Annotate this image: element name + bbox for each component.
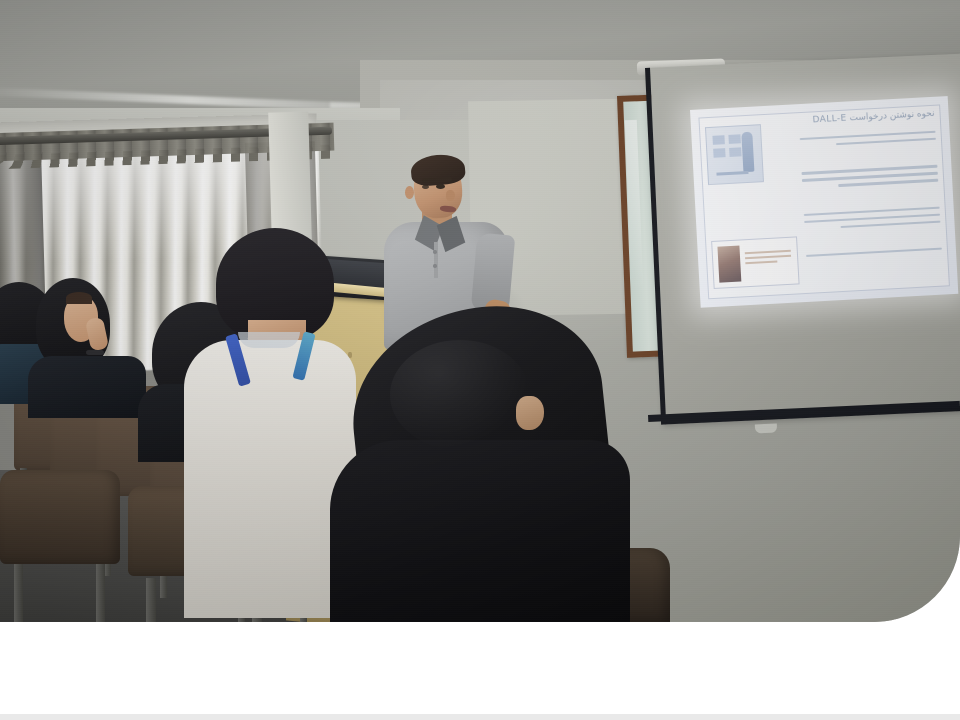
student-chador-foreground	[330, 300, 660, 622]
caption-bar: برگزاری بوتکمپ رسانه در عصر هوش مصنوعی ب…	[0, 622, 960, 720]
projected-slide: نحوه نوشتن درخواست DALL-E	[690, 96, 958, 308]
slide-book-card	[711, 236, 799, 289]
student-torso	[28, 356, 146, 418]
presenter-placket	[434, 242, 438, 278]
presenter-ear	[405, 186, 414, 199]
student-bracelet	[86, 350, 104, 355]
student-forehead	[516, 396, 544, 430]
chador-highlight	[390, 340, 530, 450]
presenter-eye-near	[436, 184, 445, 189]
slide-illustration-desk	[716, 171, 748, 176]
slide-body-text	[774, 131, 942, 264]
news-photo-card: نحوه نوشتن درخواست DALL-E	[0, 0, 960, 720]
slide-illustration-figure	[741, 132, 754, 173]
slide-card-caption-lines	[745, 250, 792, 267]
presenter-nose	[446, 190, 455, 201]
chair-backrest	[0, 470, 120, 564]
student-hijab-hand-on-chin	[28, 278, 148, 418]
book-cover-thumbnail	[717, 246, 741, 283]
slide-illustration-icon	[705, 124, 764, 185]
presenter-button-bottom	[433, 264, 437, 268]
chair-leg	[146, 578, 156, 622]
chador-body	[330, 440, 630, 622]
student-hair-strand	[66, 292, 92, 304]
chair-leg	[14, 564, 23, 622]
projection-screen-handle	[755, 424, 777, 434]
chair-leg	[96, 564, 105, 622]
classroom-chair-foreground	[0, 470, 120, 622]
lecture-hall-photo: نحوه نوشتن درخواست DALL-E	[0, 0, 960, 622]
student-collar	[238, 332, 300, 348]
bottom-strip	[0, 714, 960, 720]
student-white-shirt-lanyard	[176, 228, 356, 620]
presenter-button-top	[433, 250, 437, 254]
presenter-eye-far	[422, 185, 429, 189]
